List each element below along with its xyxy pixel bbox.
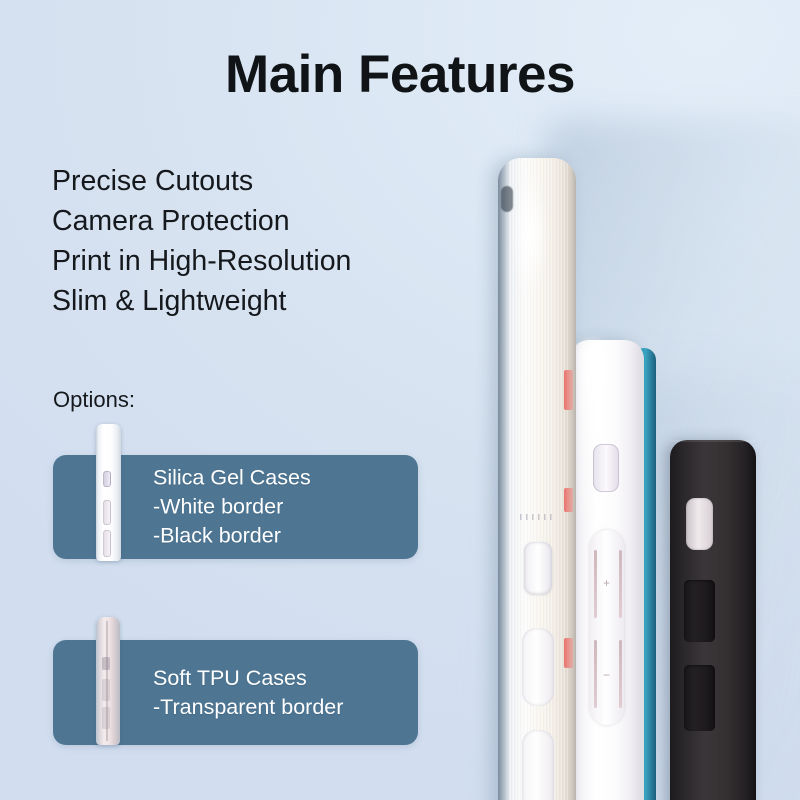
feature-item: Print in High-Resolution — [52, 241, 472, 281]
volume-slot-white-1 — [594, 550, 597, 618]
case-highlight-white — [576, 342, 606, 542]
color-accent-tab-1 — [564, 370, 573, 410]
volume-minus-icon: − — [601, 670, 612, 681]
product-feature-poster: + − Main Features Precise Cutouts Camera… — [0, 0, 800, 800]
option-card-bullet: -Transparent border — [153, 693, 343, 722]
volume-slot-white-4 — [619, 640, 622, 708]
case-ridge-texture — [506, 158, 568, 800]
option-card-title: Soft TPU Cases — [153, 664, 343, 693]
option-card-soft-tpu[interactable]: Soft TPU Cases -Transparent border — [53, 640, 418, 745]
color-accent-tab-3 — [564, 638, 573, 668]
color-accent-tab-2 — [564, 488, 573, 512]
case-specular-highlight — [508, 158, 552, 338]
volume-up-button-black — [684, 580, 715, 642]
camera-cutout-notch — [501, 186, 513, 212]
option-card-bullet: -Black border — [153, 522, 311, 551]
case-left-edge-shade — [498, 158, 509, 800]
mute-switch-clear — [524, 542, 552, 594]
backdrop-shadow-secondary — [560, 380, 800, 800]
option-card-silica-gel[interactable]: Silica Gel Cases -White border -Black bo… — [53, 455, 418, 559]
volume-up-button-clear — [522, 628, 554, 706]
option-card-text: Silica Gel Cases -White border -Black bo… — [153, 464, 311, 551]
backdrop-shadow — [475, 120, 800, 800]
volume-slot-white-2 — [619, 550, 622, 618]
phone-back-panel-teal — [632, 348, 656, 800]
texture-dots-clear — [520, 514, 556, 520]
volume-slot-white-3 — [594, 640, 597, 708]
volume-button-pad-white — [590, 530, 624, 725]
mute-switch-white — [593, 444, 619, 492]
feature-list: Precise Cutouts Camera Protection Print … — [52, 161, 472, 321]
feature-item: Precise Cutouts — [52, 161, 472, 201]
feature-item: Camera Protection — [52, 201, 472, 241]
phone-case-clear-transparent — [498, 158, 576, 800]
volume-down-button-black — [684, 665, 715, 731]
case-top-edge-highlight — [670, 440, 756, 442]
volume-down-button-clear — [522, 730, 554, 800]
page-title: Main Features — [0, 44, 800, 105]
phone-case-black — [670, 440, 756, 800]
feature-item: Slim & Lightweight — [52, 281, 472, 321]
mute-switch-black — [686, 498, 713, 550]
option-card-title: Silica Gel Cases — [153, 464, 311, 493]
option-card-text: Soft TPU Cases -Transparent border — [153, 664, 343, 722]
volume-plus-icon: + — [601, 578, 612, 589]
phone-case-white: + − — [570, 340, 644, 800]
option-card-bullet: -White border — [153, 493, 311, 522]
options-label: Options: — [53, 387, 135, 413]
